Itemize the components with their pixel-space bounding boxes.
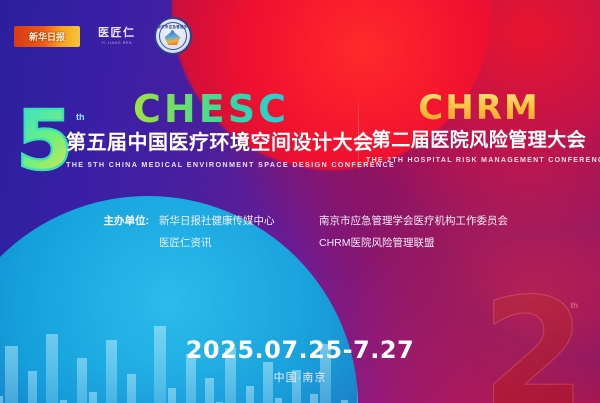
organizer-item: 医匠仁资讯 <box>159 232 319 254</box>
organizers-column-one: 新华日报社健康传媒中心 医匠仁资讯 <box>159 210 319 254</box>
event-location: 中国·南京 <box>0 369 600 385</box>
yijiangren-logo-subtext: YI JIANG REN <box>101 41 132 45</box>
event-info: 2025.07.25-7.27 中国·南京 <box>0 336 600 385</box>
skyline-building <box>168 388 176 403</box>
conference-poster: 新华日报 医匠仁 YI JIANG REN 南京市应急管理学会 5 th CHE… <box>0 0 600 403</box>
organizers-label: 主办单位: <box>81 210 159 254</box>
skyline-building <box>89 392 97 403</box>
yijiangren-logo: 医匠仁 YI JIANG REN <box>98 27 136 45</box>
title-divider <box>358 94 359 178</box>
association-emblem-logo: 南京市应急管理学会 <box>154 17 192 55</box>
chesc-acronym: CHESC <box>66 88 356 130</box>
sponsor-logo-bar: 新华日报 医匠仁 YI JIANG REN 南京市应急管理学会 <box>14 17 192 55</box>
chrm-title-zh: 第二届医院风险管理大会 <box>366 128 592 153</box>
yijiangren-logo-text: 医匠仁 <box>98 27 136 39</box>
event-date: 2025.07.25-7.27 <box>0 336 600 364</box>
xinhua-daily-logo: 新华日报 <box>14 26 80 47</box>
organizers-column-two: 南京市应急管理学会医疗机构工作委员会 CHRM医院风险管理联盟 <box>319 210 519 254</box>
xinhua-daily-logo-text: 新华日报 <box>29 30 65 43</box>
organizer-item: CHRM医院风险管理联盟 <box>319 232 519 254</box>
chesc-title-en: THE 5TH CHINA MEDICAL ENVIRONMENT SPACE … <box>66 160 356 169</box>
chrm-acronym: CHRM <box>366 88 592 128</box>
title-area: 5 th CHESC 第五届中国医疗环境空间设计大会 THE 5TH CHINA… <box>0 88 600 188</box>
chrm-title-en: THE 2TH HOSPITAL RISK MANAGEMENT CONFERE… <box>366 157 592 164</box>
skyline-building <box>310 394 318 403</box>
organizers-section: 主办单位: 新华日报社健康传媒中心 医匠仁资讯 南京市应急管理学会医疗机构工作委… <box>0 210 600 254</box>
organizer-item: 新华日报社健康传媒中心 <box>159 210 319 232</box>
organizer-item: 南京市应急管理学会医疗机构工作委员会 <box>319 210 519 232</box>
skyline-building <box>0 396 3 403</box>
skyline-building <box>246 386 254 403</box>
chesc-title-zh: 第五届中国医疗环境空间设计大会 <box>66 130 356 156</box>
chrm-conference-block: CHRM 第二届医院风险管理大会 THE 2TH HOSPITAL RISK M… <box>366 88 592 164</box>
chesc-conference-block: CHESC 第五届中国医疗环境空间设计大会 THE 5TH CHINA MEDI… <box>66 88 356 169</box>
skyline-building <box>275 398 282 403</box>
decorative-numeral-two-suffix: th <box>570 301 578 310</box>
